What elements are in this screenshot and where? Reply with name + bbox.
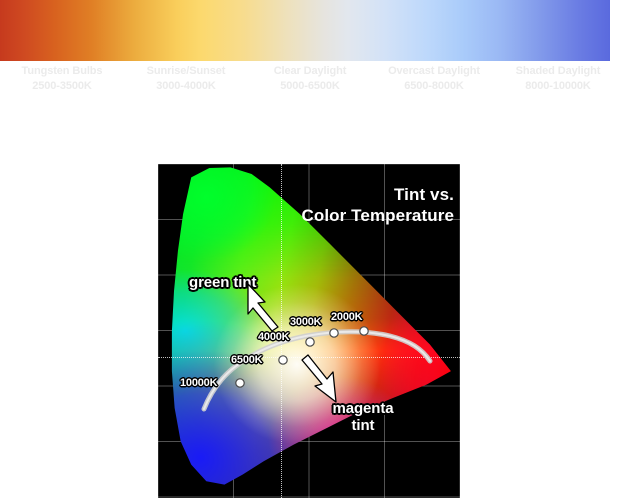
chart-title-line-2: Color Temperature — [301, 205, 454, 226]
kelvin-label-shaded-daylight: Shaded Daylight 8000-10000K — [496, 64, 620, 104]
temp-label-3000k: 3000K — [290, 316, 321, 328]
magenta-tint-line-1: magenta — [313, 400, 413, 417]
color-temperature-label-row: Tungsten Bulbs 2500-3500K Sunrise/Sunset… — [0, 64, 620, 104]
chart-title-line-1: Tint vs. — [301, 184, 454, 205]
kelvin-label-range: 5000-6500K — [248, 79, 372, 94]
kelvin-label-overcast-daylight: Overcast Daylight 6500-8000K — [372, 64, 496, 104]
kelvin-label-sunrise-sunset: Sunrise/Sunset 3000-4000K — [124, 64, 248, 104]
kelvin-label-name: Clear Daylight — [248, 64, 372, 79]
magenta-tint-line-2: tint — [313, 417, 413, 434]
kelvin-label-range: 6500-8000K — [372, 79, 496, 94]
green-tint-label: green tint — [189, 274, 256, 291]
chart-title: Tint vs. Color Temperature — [301, 184, 454, 226]
temp-label-6500k: 6500K — [231, 354, 262, 366]
kelvin-label-range: 2500-3500K — [0, 79, 124, 94]
kelvin-label-range: 8000-10000K — [496, 79, 620, 94]
kelvin-label-tungsten-bulbs: Tungsten Bulbs 2500-3500K — [0, 64, 124, 104]
kelvin-label-name: Tungsten Bulbs — [0, 64, 124, 79]
temp-label-4000k: 4000K — [258, 331, 289, 343]
dotted-horizontal-reference-line — [158, 357, 460, 358]
color-temperature-strip — [0, 0, 610, 61]
kelvin-label-name: Shaded Daylight — [496, 64, 620, 79]
kelvin-label-name: Sunrise/Sunset — [124, 64, 248, 79]
magenta-tint-label: magenta tint — [313, 400, 413, 434]
temp-label-2000k: 2000K — [331, 311, 362, 323]
kelvin-label-clear-daylight: Clear Daylight 5000-6500K — [248, 64, 372, 104]
cie-chromaticity-chart: 10000K 6500K 4000K 3000K 2000K Tint vs. … — [158, 164, 460, 498]
temp-label-10000k: 10000K — [180, 377, 217, 389]
color-temperature-gradient — [0, 0, 610, 61]
kelvin-label-range: 3000-4000K — [124, 79, 248, 94]
kelvin-label-name: Overcast Daylight — [372, 64, 496, 79]
